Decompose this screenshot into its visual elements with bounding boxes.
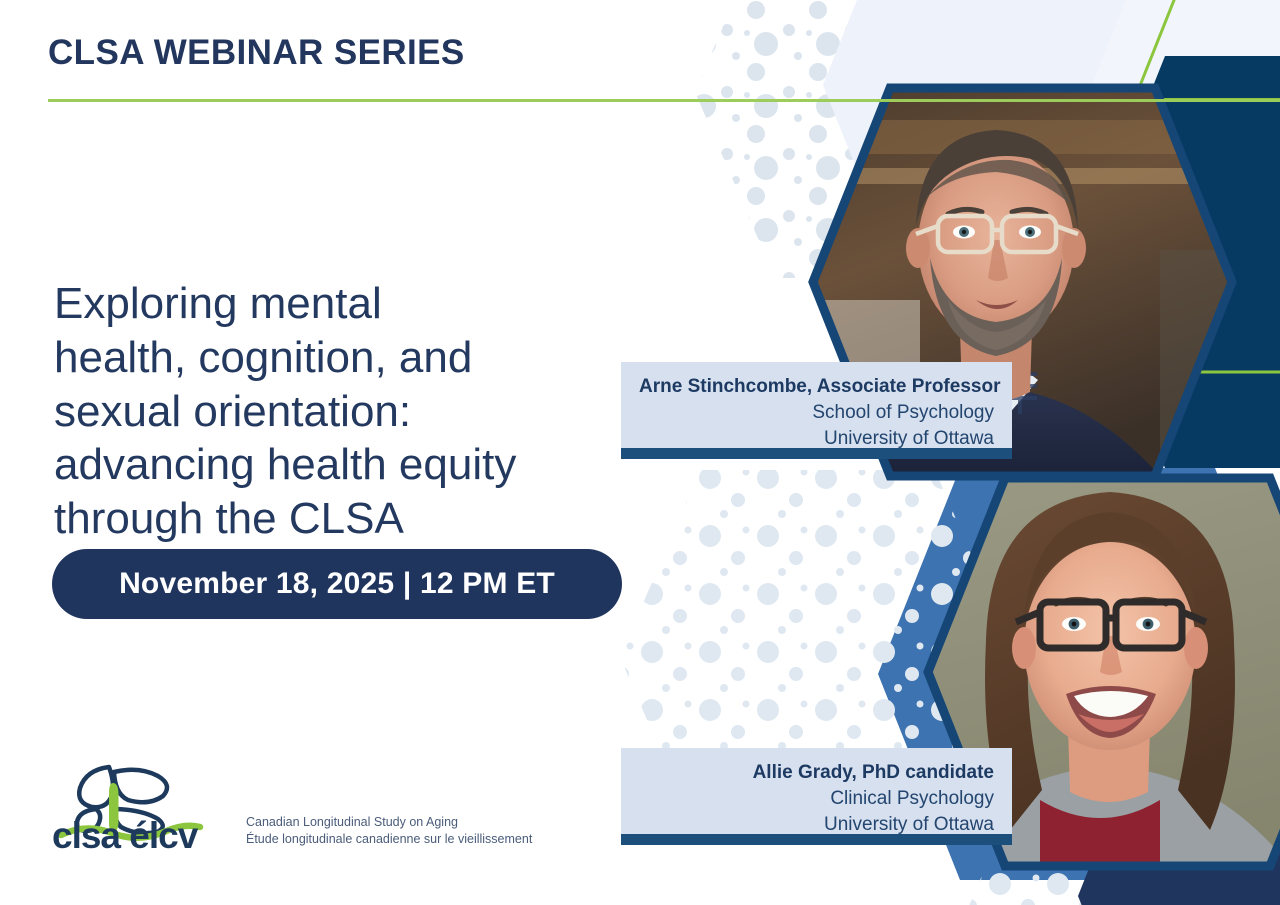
- webinar-poster: CLSA WEBINAR SERIES Exploring mental hea…: [0, 0, 1280, 905]
- speaker-name-line: Allie Grady, PhD candidate: [639, 760, 994, 786]
- series-title: CLSA WEBINAR SERIES: [48, 34, 1228, 73]
- speaker-name-line: Arne Stinchcombe, Associate Professor: [639, 374, 994, 400]
- clsa-tagline: Canadian Longitudinal Study on Aging Étu…: [246, 814, 516, 847]
- title-line-5: through the CLSA: [54, 492, 634, 546]
- speaker-department: School of Psychology: [639, 400, 994, 426]
- speaker-caption-accent-bar: [621, 834, 1012, 845]
- speaker-caption-arne-stinchcombe: Arne Stinchcombe, Associate Professor Sc…: [621, 362, 1012, 448]
- speaker-department: Clinical Psychology: [639, 786, 994, 812]
- tagline-french: Étude longitudinale canadienne sur le vi…: [246, 831, 516, 848]
- clsa-logo: clsa élcv Canadian Longitudinal Study on…: [50, 757, 470, 857]
- title-line-1: Exploring mental: [54, 277, 634, 331]
- speaker-caption-allie-grady: Allie Grady, PhD candidate Clinical Psyc…: [621, 748, 1012, 834]
- date-badge: November 18, 2025 | 12 PM ET: [52, 549, 622, 619]
- speaker-caption-accent-bar: [621, 448, 1012, 459]
- title-line-3: sexual orientation:: [54, 385, 634, 439]
- clsa-butterfly-logo-mark: clsa élcv: [50, 757, 210, 849]
- title-line-2: health, cognition, and: [54, 331, 634, 385]
- header-divider-rule: [48, 99, 1280, 102]
- tagline-english: Canadian Longitudinal Study on Aging: [246, 814, 516, 831]
- date-badge-label: November 18, 2025 | 12 PM ET: [119, 567, 555, 601]
- header-block: CLSA WEBINAR SERIES: [48, 34, 1228, 73]
- webinar-title: Exploring mental health, cognition, and …: [54, 277, 634, 545]
- title-line-4: advancing health equity: [54, 438, 634, 492]
- clsa-wordmark: clsa élcv: [52, 815, 199, 849]
